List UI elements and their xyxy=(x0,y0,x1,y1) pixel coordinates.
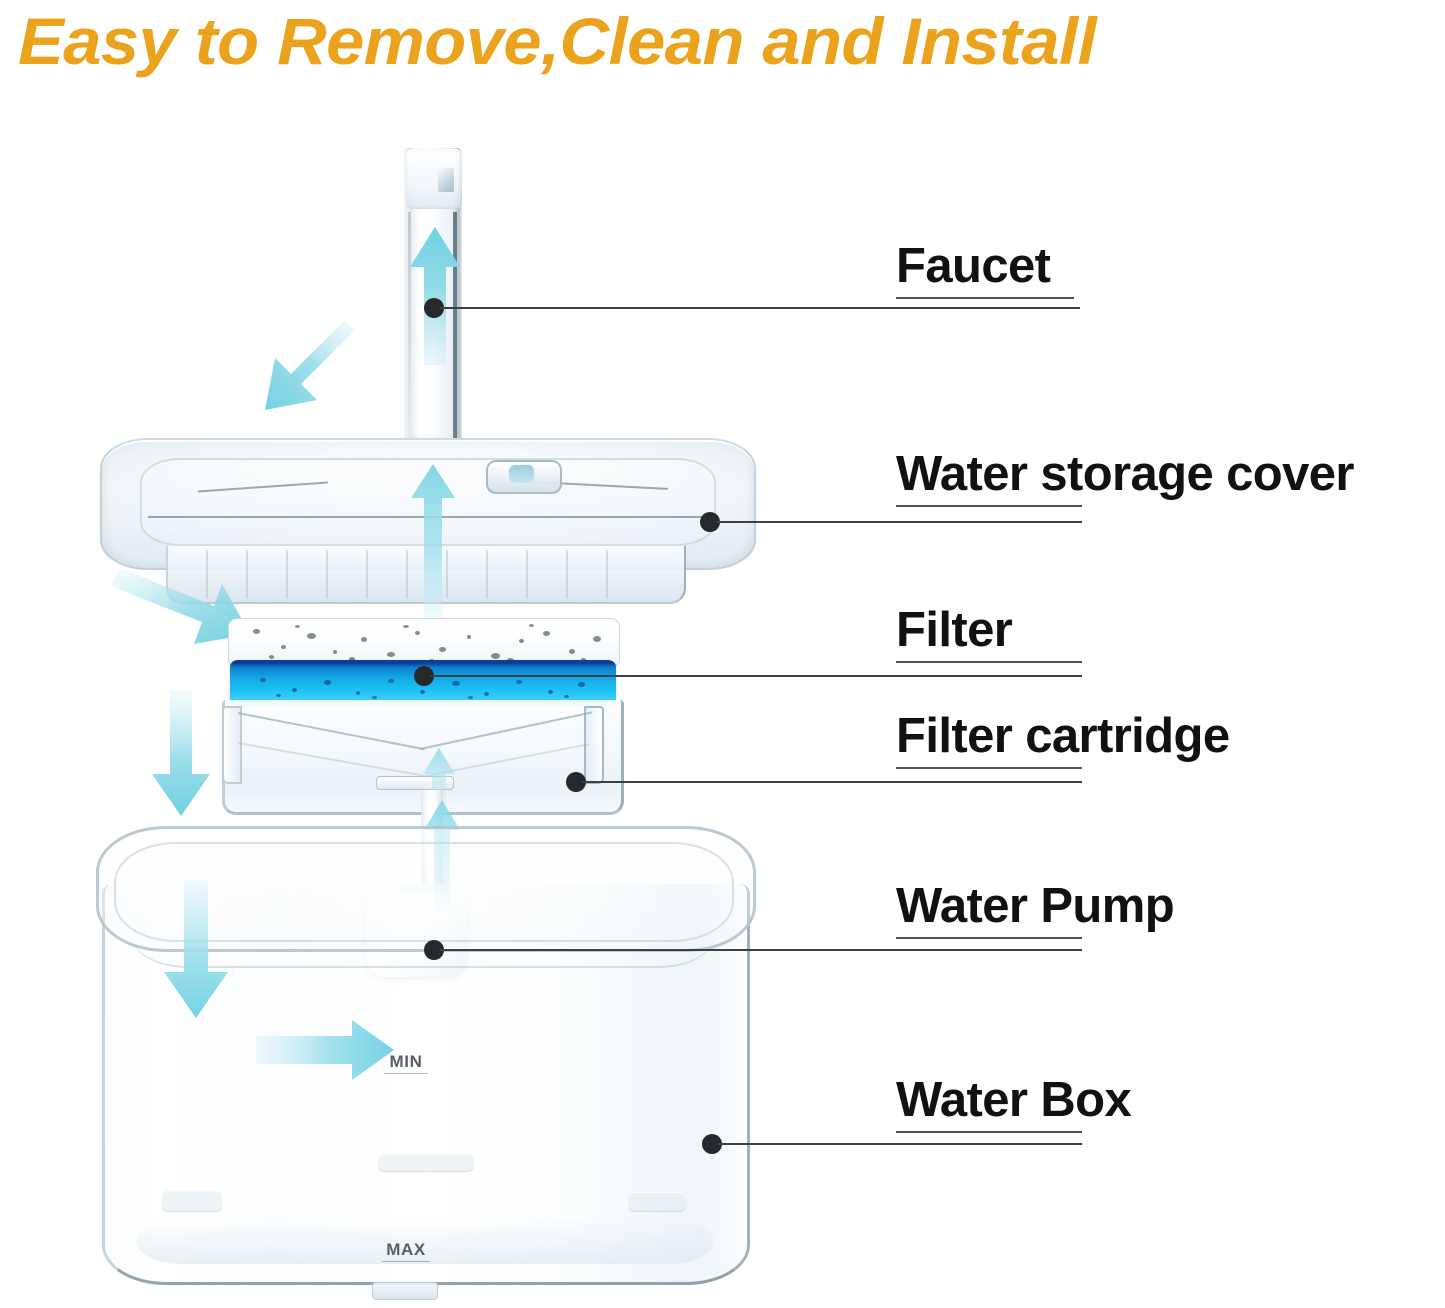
level-marking-max-line xyxy=(382,1261,430,1262)
exploded-diagram-illustration: MIN MAX xyxy=(0,0,900,1308)
leader-line-water-pump xyxy=(440,949,1082,951)
cover-skirt-rib xyxy=(326,550,328,598)
level-marking-min-line xyxy=(384,1073,428,1074)
flow-arrow-box-down xyxy=(156,880,236,1020)
callout-water-pump-label: Water Pump xyxy=(896,878,1174,934)
callout-filter-cartridge-label: Filter cartridge xyxy=(896,708,1230,764)
level-marking-min: MIN xyxy=(384,1052,428,1074)
faucet-cap-notch xyxy=(438,168,454,192)
callout-water-box-underline xyxy=(896,1131,1082,1133)
callout-water-storage-cover-label: Water storage cover xyxy=(896,446,1354,502)
callout-water-pump: Water Pump xyxy=(896,878,1174,939)
box-emboss-left xyxy=(162,1190,222,1212)
cover-skirt-rib xyxy=(526,550,528,598)
level-marking-min-label: MIN xyxy=(390,1052,423,1071)
leader-line-filter-cartridge xyxy=(582,781,1082,783)
cover-skirt-rib xyxy=(366,550,368,598)
callout-filter-cartridge: Filter cartridge xyxy=(896,708,1230,769)
callout-filter: Filter xyxy=(896,602,1082,663)
box-emboss-right xyxy=(628,1192,686,1212)
callout-water-storage-cover: Water storage cover xyxy=(896,446,1354,507)
product-diagram-page: Easy to Remove,Clean and Install xyxy=(0,0,1445,1308)
callout-filter-underline xyxy=(896,661,1082,663)
callout-faucet: Faucet xyxy=(896,238,1074,299)
leader-line-water-storage-cover xyxy=(716,521,1082,523)
leader-line-water-box xyxy=(718,1143,1082,1145)
cover-skirt-rib xyxy=(606,550,608,598)
flow-arrow-faucet-up xyxy=(408,225,462,365)
callout-faucet-label: Faucet xyxy=(896,238,1074,294)
callout-faucet-underline xyxy=(896,297,1074,299)
callout-water-storage-cover-underline xyxy=(896,505,1082,507)
callout-water-box: Water Box xyxy=(896,1072,1131,1133)
cartridge-lip-left xyxy=(222,706,242,784)
level-marking-max: MAX xyxy=(382,1240,430,1262)
cover-skirt-rib xyxy=(566,550,568,598)
flow-arrow-cover-up xyxy=(408,462,458,630)
callout-filter-cartridge-underline xyxy=(896,767,1082,769)
flow-arrow-filter-down xyxy=(146,690,216,818)
callout-filter-label: Filter xyxy=(896,602,1082,658)
leader-line-faucet xyxy=(440,307,1080,309)
callout-water-pump-underline xyxy=(896,937,1082,939)
cover-hub-outlet xyxy=(509,465,534,483)
flow-arrow-box-right xyxy=(256,1018,396,1082)
water-box-foot xyxy=(372,1282,438,1300)
cover-skirt-rib xyxy=(286,550,288,598)
box-emboss-center xyxy=(378,1154,474,1172)
flow-arrow-spill-diagonal xyxy=(243,318,361,428)
callout-water-box-label: Water Box xyxy=(896,1072,1131,1128)
leader-line-filter xyxy=(430,675,1082,677)
cover-skirt-rib xyxy=(486,550,488,598)
level-marking-max-label: MAX xyxy=(386,1240,426,1259)
